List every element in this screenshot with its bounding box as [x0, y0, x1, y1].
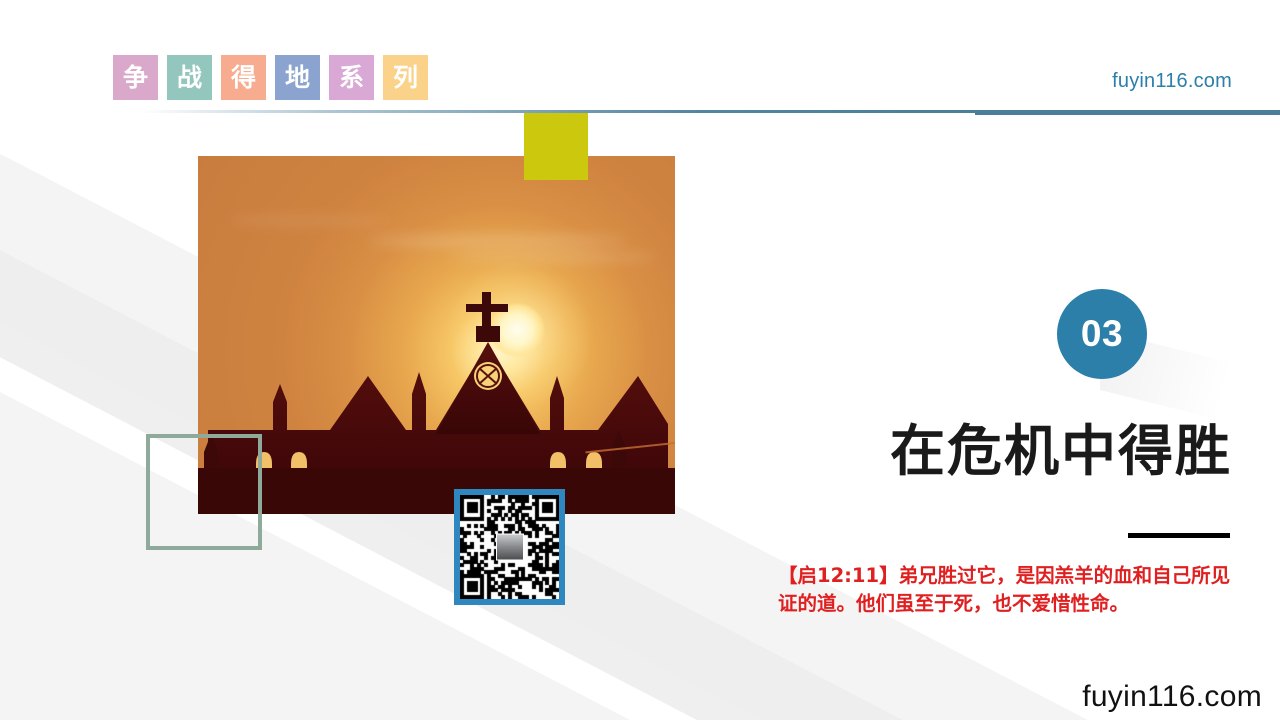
series-tile-6: 列 — [383, 55, 428, 100]
slide-header: 争战得地系列 fuyin116.com — [0, 0, 1280, 112]
brand-top: fuyin116.com — [1112, 70, 1232, 93]
qr-code[interactable] — [454, 489, 565, 605]
series-tile-1: 争 — [113, 55, 158, 100]
cloud — [228, 216, 388, 225]
page-title: 在危机中得胜 — [890, 424, 1232, 479]
series-tile-5: 系 — [329, 55, 374, 100]
brand-bottom: fuyin116.com — [1082, 680, 1262, 714]
qr-code-matrix — [460, 495, 559, 599]
yellow-accent-square — [524, 113, 588, 180]
series-tile-4: 地 — [275, 55, 320, 100]
ground-strip — [198, 468, 675, 514]
header-divider-accent — [975, 113, 1280, 115]
section-number-badge: 03 — [1057, 289, 1147, 379]
church-sunset-photo — [198, 156, 675, 514]
title-underline-rule — [1128, 533, 1230, 538]
cloud — [368, 234, 628, 248]
qr-center-logo-icon — [496, 534, 524, 561]
series-tile-3: 得 — [221, 55, 266, 100]
slide-canvas: 争战得地系列 fuyin116.com — [0, 0, 1280, 720]
sage-outline-square — [146, 434, 262, 550]
scripture-text: 【启12:11】弟兄胜过它，是因羔羊的血和自己所见证的道。他们虽至于死，也不爱惜… — [778, 562, 1248, 619]
cloud — [448, 252, 658, 262]
series-tile-2: 战 — [167, 55, 212, 100]
series-title-tiles: 争战得地系列 — [113, 55, 428, 100]
